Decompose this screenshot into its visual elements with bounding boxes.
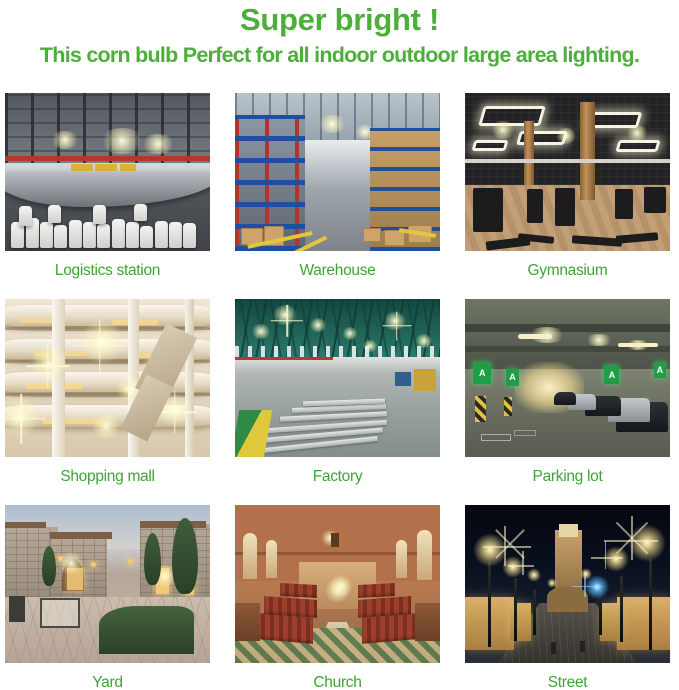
scene-caption: Yard	[5, 663, 210, 690]
scene-image-gymnasium	[465, 93, 670, 251]
scene-image-factory	[235, 299, 440, 457]
scene-image-church	[235, 505, 440, 663]
product-feature-page: Super bright ! This corn bulb Perfect fo…	[0, 0, 679, 690]
gallery-item-shopping-mall: Shopping mall	[5, 299, 210, 505]
scene-caption: Logistics station	[5, 251, 210, 299]
application-scenarios-gallery: Logistics station Warehouse	[5, 93, 674, 690]
scene-image-logistics-station	[5, 93, 210, 251]
gallery-item-factory: Factory	[235, 299, 440, 505]
gallery-item-church: Church	[235, 505, 440, 690]
scene-caption: Parking lot	[465, 457, 670, 505]
scene-image-warehouse	[235, 93, 440, 251]
scene-image-street	[465, 505, 670, 663]
gallery-item-street: Street	[465, 505, 670, 690]
gallery-item-parking-lot: A A A A Parking lot	[465, 299, 670, 505]
scene-image-parking-lot: A A A A	[465, 299, 670, 457]
scene-caption: Church	[235, 663, 440, 690]
scene-caption: Shopping mall	[5, 457, 210, 505]
gallery-item-logistics-station: Logistics station	[5, 93, 210, 299]
scene-caption: Warehouse	[235, 251, 440, 299]
gallery-item-yard: Yard	[5, 505, 210, 690]
page-subtitle: This corn bulb Perfect for all indoor ou…	[0, 38, 679, 69]
gallery-item-warehouse: Warehouse	[235, 93, 440, 299]
scene-caption: Gymnasium	[465, 251, 670, 299]
scene-image-shopping-mall	[5, 299, 210, 457]
gallery-item-gymnasium: Gymnasium	[465, 93, 670, 299]
page-title: Super bright !	[0, 0, 679, 38]
scene-caption: Street	[465, 663, 670, 690]
scene-caption: Factory	[235, 457, 440, 505]
scene-image-yard	[5, 505, 210, 663]
